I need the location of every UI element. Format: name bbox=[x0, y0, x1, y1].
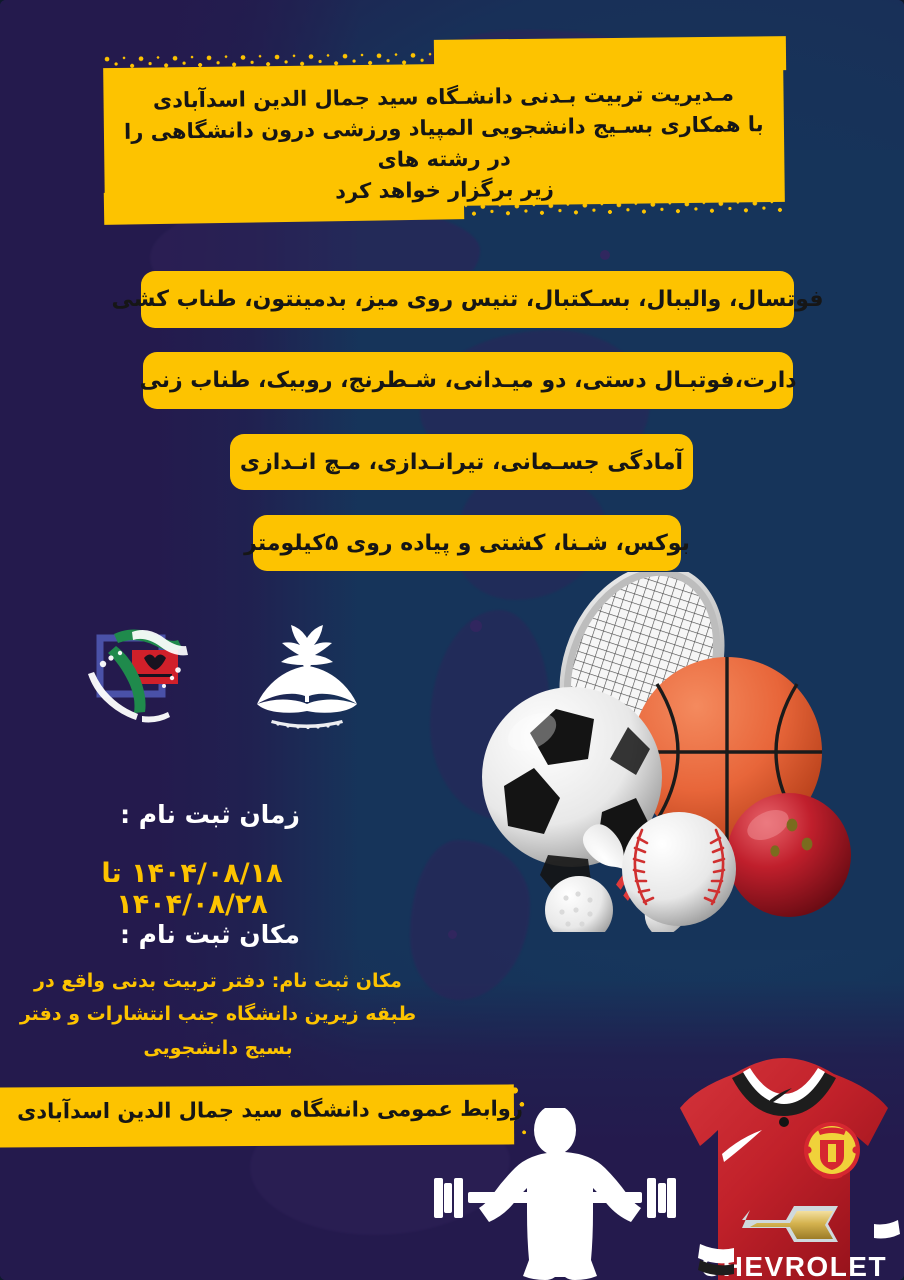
header-line-2: با همکاری بسـیج دانشجویی المپیاد ورزشی د… bbox=[118, 109, 771, 179]
header-title-text: مـدیریت تربیت بـدنی دانشـگاه سید جمال ال… bbox=[103, 78, 784, 211]
jersey-cuff-right bbox=[874, 1220, 900, 1239]
registration-date-range: ۱۴۰۴/۰۸/۱۸ تا ۱۴۰۴/۰۸/۲۸ bbox=[22, 858, 362, 920]
discipline-bar-4: بوکس، شـنا، کشتی و پیاده روی ۵کیلومتر bbox=[253, 515, 681, 571]
bowling-ball-icon bbox=[727, 793, 851, 917]
registration-time-heading: زمان ثبت نام : bbox=[60, 800, 360, 829]
discipline-bar-2: دارت،فوتبـال دستی، دو میـدانی، شـطرنج، ر… bbox=[143, 352, 793, 409]
discipline-bar-1: فوتسال، والیبال، بسـکتبال، تنیس روی میز،… bbox=[141, 271, 794, 328]
poster-root: مـدیریت تربیت بـدنی دانشـگاه سید جمال ال… bbox=[0, 0, 904, 1280]
logo-row bbox=[86, 612, 366, 738]
sports-equipment-illustration bbox=[452, 572, 882, 932]
registration-place-line-2: طبقه زیرین دانشگاه جنب انتشارات و دفتر ب… bbox=[8, 998, 428, 1065]
discipline-bar-3: آمادگی جسـمانی، تیرانـدازی، مـچ انـدازی bbox=[230, 434, 693, 490]
registration-place-line-1: مکان ثبت نام: دفتر تربیت بدنی واقع در bbox=[8, 965, 428, 998]
registration-place-details: مکان ثبت نام: دفتر تربیت بدنی واقع در طب… bbox=[8, 965, 428, 1065]
basij-student-organization-logo bbox=[86, 612, 210, 734]
registration-place-heading: مکان ثبت نام : bbox=[60, 920, 360, 949]
splatter-dot bbox=[600, 250, 610, 260]
jersey-button bbox=[779, 1117, 789, 1127]
baseball-icon bbox=[622, 812, 736, 926]
university-logo bbox=[248, 620, 366, 732]
footer-credit-text: روابط عمومی دانشگاه سید جمال الدین اسدآب… bbox=[10, 1096, 530, 1123]
header-block: مـدیریت تربیت بـدنی دانشـگاه سید جمال ال… bbox=[104, 38, 784, 218]
header-grain-top bbox=[103, 47, 783, 71]
football-jersey-illustration: CHEVROLET bbox=[660, 1044, 904, 1280]
